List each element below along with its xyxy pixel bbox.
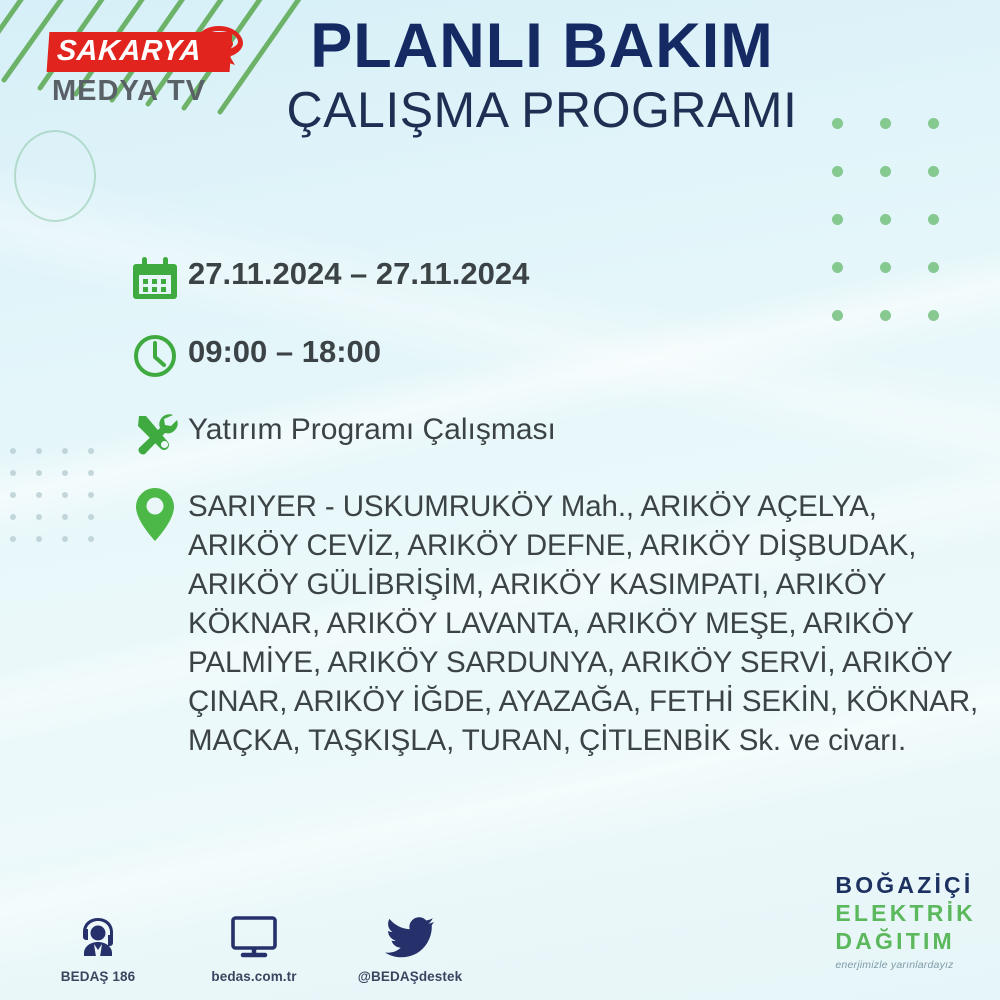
location-line: SARIYER - USKUMRUKÖY Mah., ARIKÖY AÇELYA… bbox=[188, 488, 978, 527]
contact-label: bedas.com.tr bbox=[200, 969, 308, 984]
footer-contacts: BEDAŞ 186 bedas.com.tr @BEDAŞd bbox=[44, 910, 464, 984]
twitter-bird-icon bbox=[356, 910, 464, 960]
detail-row-date: 27.11.2024 – 27.11.2024 bbox=[132, 252, 962, 304]
detail-row-work-type: Yatırım Programı Çalışması bbox=[132, 408, 962, 460]
contact-call-center[interactable]: BEDAŞ 186 bbox=[44, 910, 152, 984]
maintenance-details: 27.11.2024 – 27.11.2024 09:00 – 18:00 bbox=[132, 252, 962, 761]
company-line-2: ELEKTRİK bbox=[835, 902, 976, 925]
sakarya-medya-tv-logo: SAKARYA MEDYA TV bbox=[48, 32, 228, 106]
location-line: ÇINAR, ARIKÖY İĞDE, AYAZAĞA, FETHİ SEKİN… bbox=[188, 683, 978, 722]
location-line: MAÇKA, TAŞKIŞLA, TURAN, ÇİTLENBİK Sk. ve… bbox=[188, 722, 978, 761]
detail-row-location: SARIYER - USKUMRUKÖY Mah., ARIKÖY AÇELYA… bbox=[132, 486, 962, 761]
calendar-icon bbox=[132, 252, 188, 304]
maintenance-date: 27.11.2024 – 27.11.2024 bbox=[188, 252, 962, 291]
support-agent-icon bbox=[44, 910, 152, 960]
clock-icon bbox=[132, 330, 188, 382]
contact-label: @BEDAŞdestek bbox=[356, 969, 464, 984]
page-title: PLANLI BAKIM bbox=[222, 14, 862, 78]
location-line: ARIKÖY CEVİZ, ARIKÖY DEFNE, ARIKÖY DİŞBU… bbox=[188, 527, 978, 566]
detail-row-time: 09:00 – 18:00 bbox=[132, 330, 962, 382]
location-line: ARIKÖY GÜLİBRİŞİM, ARIKÖY KASIMPATI, ARI… bbox=[188, 566, 978, 605]
maintenance-location: SARIYER - USKUMRUKÖY Mah., ARIKÖY AÇELYA… bbox=[188, 486, 978, 761]
company-line-1: BOĞAZİÇİ bbox=[835, 874, 976, 897]
map-pin-icon bbox=[132, 486, 188, 544]
company-line-3: DAĞITIM bbox=[835, 930, 976, 953]
monitor-icon bbox=[200, 910, 308, 960]
location-line: KÖKNAR, ARIKÖY LAVANTA, ARIKÖY MEŞE, ARI… bbox=[188, 605, 978, 644]
logo-top-row: SAKARYA bbox=[48, 32, 231, 72]
planned-maintenance-poster: SAKARYA MEDYA TV PLANLI BAKIM ÇALIŞMA PR… bbox=[0, 0, 1000, 1000]
location-line: PALMİYE, ARIKÖY SARDUNYA, ARIKÖY SERVİ, … bbox=[188, 644, 978, 683]
maintenance-work-type: Yatırım Programı Çalışması bbox=[188, 408, 962, 446]
bedas-company-logo: BOĞAZİÇİ ELEKTRİK DAĞITIM enerjimizle ya… bbox=[835, 874, 976, 971]
tools-icon bbox=[132, 408, 188, 460]
circle-outline-decoration bbox=[14, 130, 96, 222]
company-tagline: enerjimizle yarınlardayız bbox=[835, 960, 976, 971]
contact-website[interactable]: bedas.com.tr bbox=[200, 910, 308, 984]
poster-headline: PLANLI BAKIM ÇALIŞMA PROGRAMI bbox=[222, 14, 862, 137]
contact-label: BEDAŞ 186 bbox=[44, 969, 152, 984]
contact-twitter[interactable]: @BEDAŞdestek bbox=[356, 910, 464, 984]
maintenance-time: 09:00 – 18:00 bbox=[188, 330, 962, 369]
page-subtitle: ÇALIŞMA PROGRAMI bbox=[222, 84, 862, 137]
logo-subtitle: MEDYA TV bbox=[52, 77, 228, 106]
dot-grid-decoration-left bbox=[10, 448, 114, 558]
